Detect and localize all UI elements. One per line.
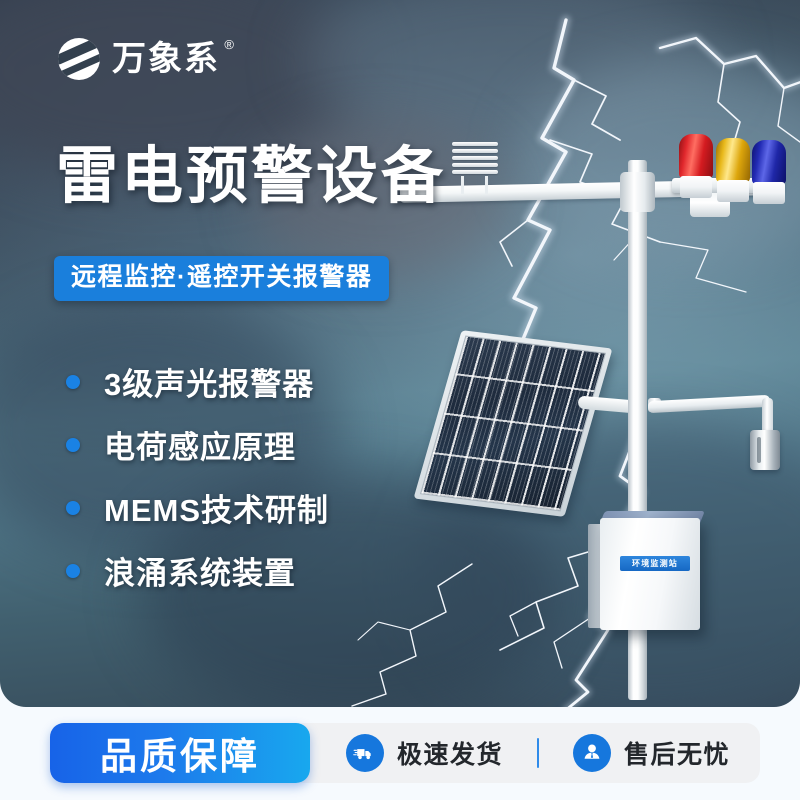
brand-name-text: 万象系 xyxy=(112,40,220,78)
service-divider xyxy=(537,738,539,768)
yellow-beacon-lamp xyxy=(716,138,750,202)
service-item-aftersales[interactable]: 售后无忧 xyxy=(573,734,730,772)
feature-item: 浪涌系统装置 xyxy=(66,539,329,602)
feature-item: 电荷感应原理 xyxy=(66,413,329,476)
feature-label: 浪涌系统装置 xyxy=(104,548,296,593)
product-ad-page: 环境监测站 万象系 ® 雷电预警设备 远程监控·遥控开关报警器 3级声光报警器 … xyxy=(0,0,800,800)
brand-name: 万象系 ® xyxy=(112,42,220,76)
pole-collar xyxy=(620,172,655,212)
feature-item: 3级声光报警器 xyxy=(66,350,329,413)
bullet-dot-icon xyxy=(66,438,80,452)
subtitle-badge: 远程监控·遥控开关报警器 xyxy=(54,256,389,301)
service-label: 极速发货 xyxy=(397,735,503,771)
blue-beacon-lamp xyxy=(752,140,786,204)
feature-label: 3级声光报警器 xyxy=(104,359,314,404)
feature-item: MEMS技术研制 xyxy=(66,476,329,539)
red-beacon-lamp xyxy=(679,134,713,198)
brand-logo: 万象系 ® xyxy=(58,38,220,80)
feature-list: 3级声光报警器 电荷感应原理 MEMS技术研制 浪涌系统装置 xyxy=(66,350,329,602)
globe-swoosh-logo-icon xyxy=(58,38,100,80)
service-label: 售后无忧 xyxy=(624,735,730,771)
hero-image: 环境监测站 万象系 ® 雷电预警设备 远程监控·遥控开关报警器 3级声光报警器 … xyxy=(0,0,800,707)
delivery-truck-icon xyxy=(346,734,384,772)
trust-bar: 极速发货 售后无忧 品质保障 xyxy=(0,707,800,800)
control-box-label: 环境监测站 xyxy=(620,556,690,571)
bullet-dot-icon xyxy=(66,564,80,578)
feature-label: MEMS技术研制 xyxy=(104,485,329,530)
customer-service-person-icon xyxy=(573,734,611,772)
hanging-cylinder-sensor xyxy=(750,430,780,470)
right-arm xyxy=(648,395,770,413)
bullet-dot-icon xyxy=(66,501,80,515)
feature-label: 电荷感应原理 xyxy=(104,422,296,467)
registered-trademark-icon: ® xyxy=(224,38,236,51)
control-box xyxy=(600,518,700,630)
page-title: 雷电预警设备 xyxy=(56,146,446,208)
solar-cells xyxy=(420,336,606,512)
solar-panel xyxy=(414,330,613,517)
bullet-dot-icon xyxy=(66,375,80,389)
service-info-bar: 极速发货 售后无忧 xyxy=(290,723,760,783)
quality-guarantee-badge[interactable]: 品质保障 xyxy=(50,723,310,783)
service-item-shipping[interactable]: 极速发货 xyxy=(346,734,503,772)
radiation-shield-sensor xyxy=(452,142,498,176)
